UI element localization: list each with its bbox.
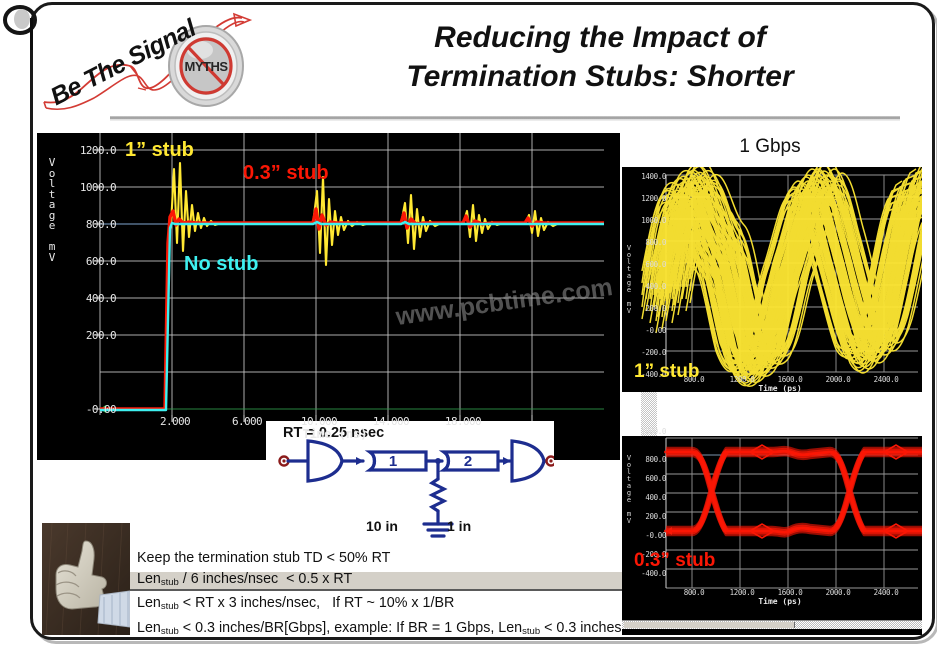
eye-yellow-ytick-3: 800.0	[630, 238, 666, 247]
eye-yellow-xtick-2: 1600.0	[768, 375, 812, 384]
waveform-ytick-3: 600.0	[62, 255, 116, 268]
eye-yellow-x-caption: Time (ps)	[740, 384, 820, 393]
eye-yellow-ytick-2: 1000.0	[630, 216, 666, 225]
bullet-4: Lenstub < 0.3 inches/BR[Gbps], example: …	[137, 618, 697, 643]
eye-yellow-ytick-7: -0.00	[630, 326, 666, 335]
slide-root: MYTHS Be The Signal Reducing the Impact …	[0, 0, 937, 648]
title-line-2: Termination Stubs: Shorter	[300, 57, 900, 96]
bullet-3: Lenstub < RT x 3 inches/nsec, If RT ~ 10…	[137, 593, 697, 618]
waveform-xtick-0: 2.000	[142, 415, 208, 428]
be-the-signal-logo: MYTHS Be The Signal	[34, 4, 284, 116]
label-no-stub: No stub	[184, 253, 258, 276]
eye-yellow-ytick-0: 1400.0	[630, 172, 666, 181]
eye-yellow-ytick-4: 600.0	[630, 260, 666, 269]
eye-red-ytick-0: 1000.0	[630, 427, 666, 436]
bullet-list: Keep the termination stub TD < 50% RT Le…	[137, 548, 697, 642]
eye-yellow-label: 1” stub	[634, 361, 699, 383]
eye-red-x-caption: Time (ps)	[740, 597, 820, 606]
waveform-xtick-4: 18.000	[430, 415, 496, 428]
eye-yellow-xtick-4: 2400.0	[864, 375, 908, 384]
eye-red-ytick-3: 400.0	[630, 493, 666, 502]
waveform-ytick-1: 1000.0	[62, 181, 116, 194]
eye-yellow-xtick-3: 2000.0	[816, 375, 860, 384]
eye-red-xtick-4: 2400.0	[864, 588, 908, 597]
slide-title: Reducing the Impact of Termination Stubs…	[300, 18, 900, 96]
eye-red-ytick-5: -0.00	[630, 531, 666, 540]
bitrate-heading: 1 Gbps	[660, 136, 880, 158]
svg-text:MYTHS: MYTHS	[185, 59, 229, 74]
eye-yellow-ytick-5: 400.0	[630, 282, 666, 291]
waveform-x-axis-caption: Time (ns)	[265, 427, 405, 441]
waveform-ytick-2: 800.0	[62, 218, 116, 231]
eye-yellow-ytick-6: 200.0	[630, 304, 666, 313]
label-03in-stub: 0.3” stub	[243, 162, 329, 185]
waveform-ytick-5: 200.0	[62, 329, 116, 342]
waveform-y-axis-caption: Voltage mV	[44, 158, 60, 263]
eye-red-ytick-4: 200.0	[630, 512, 666, 521]
svg-text:1: 1	[389, 453, 397, 470]
waveform-ytick-0: 1200.0	[62, 144, 116, 157]
eye-red-ytick-2: 600.0	[630, 474, 666, 483]
eye-yellow-ytick-8: -200.0	[630, 348, 666, 357]
thumbs-up-photo	[42, 523, 130, 635]
bullet-1: Keep the termination stub TD < 50% RT	[137, 548, 697, 569]
label-1in-stub: 1” stub	[125, 139, 194, 162]
eye-diagram-1in-stub	[622, 167, 922, 392]
eye-red-xtick-3: 2000.0	[816, 588, 860, 597]
waveform-ytick-6: -0.00	[62, 403, 116, 416]
bullet-2: Lenstub / 6 inches/nsec < 0.5 x RT	[137, 569, 697, 594]
title-divider	[110, 116, 900, 121]
eye-yellow-xtick-1: 1200.0	[720, 375, 764, 384]
eye-red-xtick-2: 1600.0	[768, 588, 812, 597]
eye-red-xtick-1: 1200.0	[720, 588, 764, 597]
circuit-line2-length: 1 in	[447, 518, 471, 534]
svg-text:2: 2	[464, 453, 472, 470]
title-line-1: Reducing the Impact of	[300, 18, 900, 57]
waveform-ytick-4: 400.0	[62, 292, 116, 305]
circuit-line1-length: 10 in	[366, 518, 398, 534]
eye-yellow-ytick-1: 1200.0	[630, 194, 666, 203]
eye-red-ytick-1: 800.0	[630, 455, 666, 464]
